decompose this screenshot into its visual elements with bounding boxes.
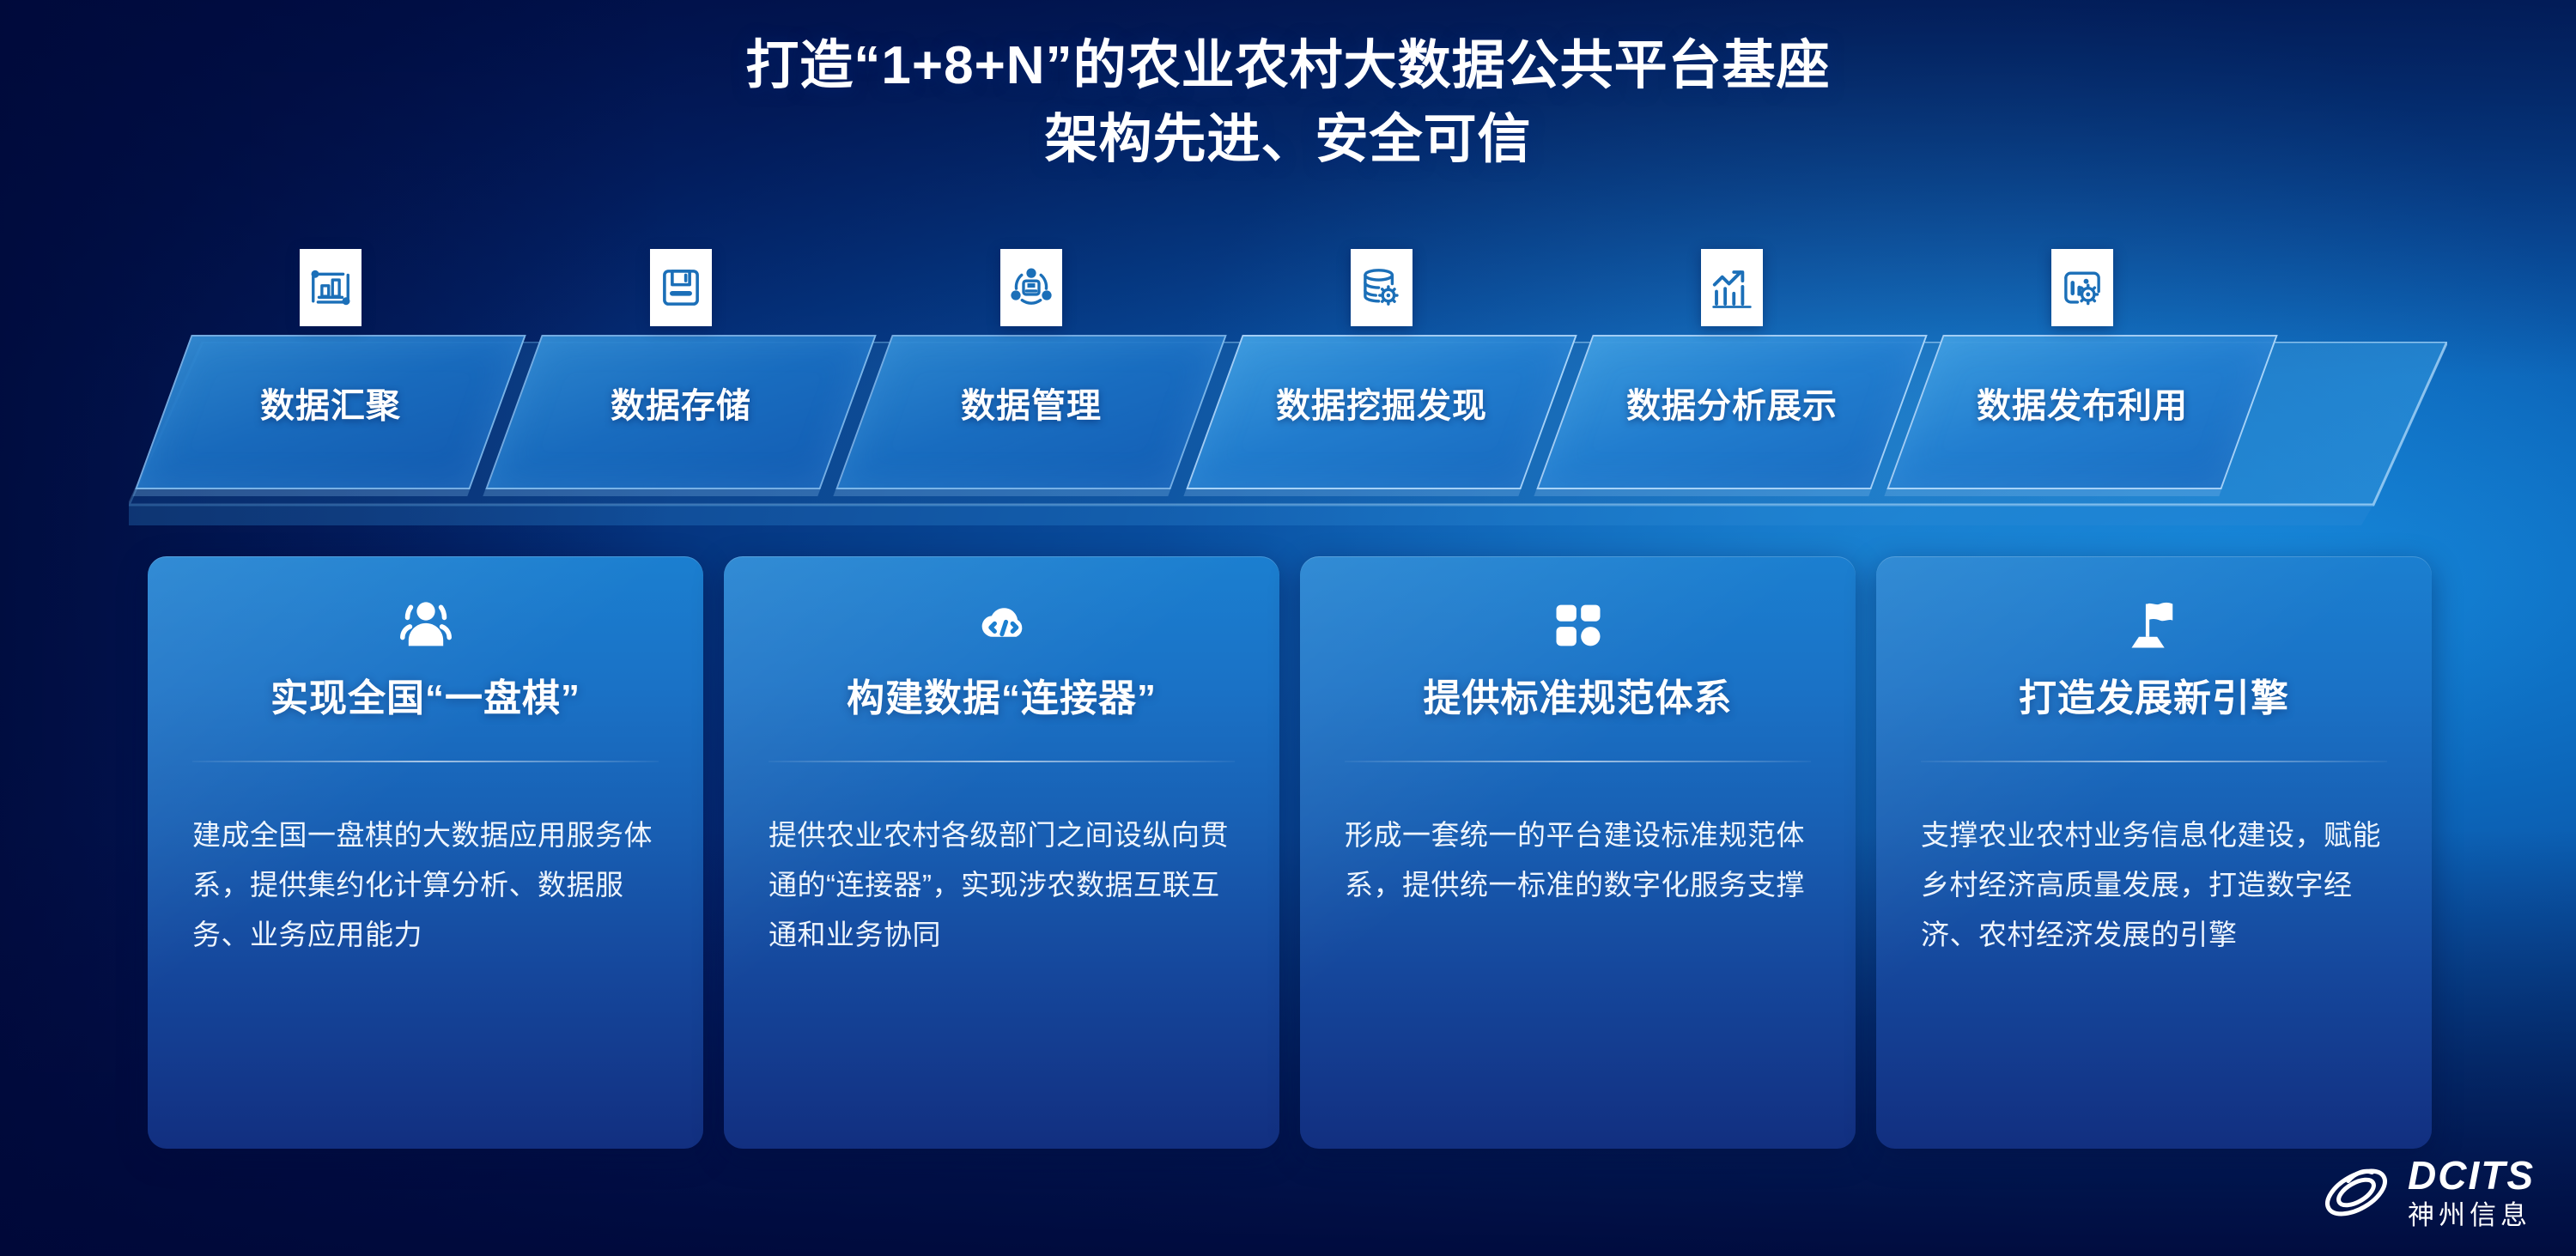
bar-chart-frame-icon (300, 249, 361, 326)
stage-item-data-mining[interactable]: 数据挖掘发现 (1186, 335, 1577, 489)
card-body: 建成全国一盘棋的大数据应用服务体系，提供集约化计算分析、数据服务、业务应用能力 (192, 810, 659, 960)
card-title: 实现全国“一盘棋” (192, 675, 659, 723)
stage-item-data-publishing[interactable]: 数据发布利用 (1886, 335, 2278, 489)
flag-milestone-icon (1921, 592, 2387, 659)
dcits-swirl-icon (2320, 1156, 2392, 1229)
card-body: 提供农业农村各级部门之间设纵向贯通的“连接器”，实现涉农数据互联互通和业务协同 (769, 810, 1235, 960)
card-title: 构建数据“连接器” (769, 675, 1235, 723)
card-divider (1345, 761, 1811, 762)
logo-name-cn: 神州信息 (2408, 1202, 2535, 1229)
stage-item-data-management[interactable]: 数据管理 (835, 335, 1227, 489)
stage-item-data-aggregation[interactable]: 数据汇聚 (135, 335, 526, 489)
title-line-primary: 打造“1+8+N”的农业农村大数据公共平台基座 (0, 29, 2576, 103)
grid-four-icon (1345, 592, 1811, 659)
stage-label: 数据汇聚 (165, 378, 496, 428)
stage-label: 数据存储 (515, 378, 847, 428)
stage-list: 数据汇聚 数据存储 (163, 335, 2250, 489)
process-ribbon: 数据汇聚 数据存储 (0, 283, 2576, 541)
stage-item-data-analysis[interactable]: 数据分析展示 (1536, 335, 1928, 489)
trend-bar-chart-icon (1701, 249, 1763, 326)
card-title: 提供标准规范体系 (1345, 675, 1811, 723)
feature-card-data-connector[interactable]: 构建数据“连接器” 提供农业农村各级部门之间设纵向贯通的“连接器”，实现涉农数据… (724, 556, 1279, 1149)
stage-label: 数据分析展示 (1566, 378, 1898, 428)
feature-card-new-engine[interactable]: 打造发展新引擎 支撑农业农村业务信息化建设，赋能乡村经济高质量发展，打造数字经济… (1876, 556, 2432, 1149)
stage-item-data-storage[interactable]: 数据存储 (485, 335, 877, 489)
feature-card-national-chessboard[interactable]: 实现全国“一盘棋” 建成全国一盘棋的大数据应用服务体系，提供集约化计算分析、数据… (148, 556, 703, 1149)
card-body: 形成一套统一的平台建设标准规范体系，提供统一标准的数字化服务支撑 (1345, 810, 1811, 910)
card-divider (769, 761, 1235, 762)
feature-card-list: 实现全国“一盘棋” 建成全国一盘棋的大数据应用服务体系，提供集约化计算分析、数据… (148, 556, 2432, 1149)
page-title: 打造“1+8+N”的农业农村大数据公共平台基座 架构先进、安全可信 (0, 29, 2576, 177)
users-group-icon (192, 592, 659, 659)
logo-name-en: DCITS (2408, 1156, 2535, 1195)
feature-card-standards-system[interactable]: 提供标准规范体系 形成一套统一的平台建设标准规范体系，提供统一标准的数字化服务支… (1300, 556, 1856, 1149)
card-divider (1921, 761, 2387, 762)
title-line-secondary: 架构先进、安全可信 (0, 103, 2576, 177)
database-gear-icon (1351, 249, 1413, 326)
card-body: 支撑农业农村业务信息化建设，赋能乡村经济高质量发展，打造数字经济、农村经济发展的… (1921, 810, 2387, 960)
card-title: 打造发展新引擎 (1921, 675, 2387, 723)
stage-label: 数据管理 (866, 378, 1197, 428)
network-nodes-icon (1000, 249, 1062, 326)
floppy-disk-icon (650, 249, 712, 326)
stage-label: 数据挖掘发现 (1216, 378, 1547, 428)
company-logo: DCITS 神州信息 (2320, 1156, 2535, 1229)
cloud-code-icon (769, 592, 1235, 659)
card-divider (192, 761, 659, 762)
stage-label: 数据发布利用 (1917, 378, 2248, 428)
dashboard-gear-icon (2051, 249, 2113, 326)
